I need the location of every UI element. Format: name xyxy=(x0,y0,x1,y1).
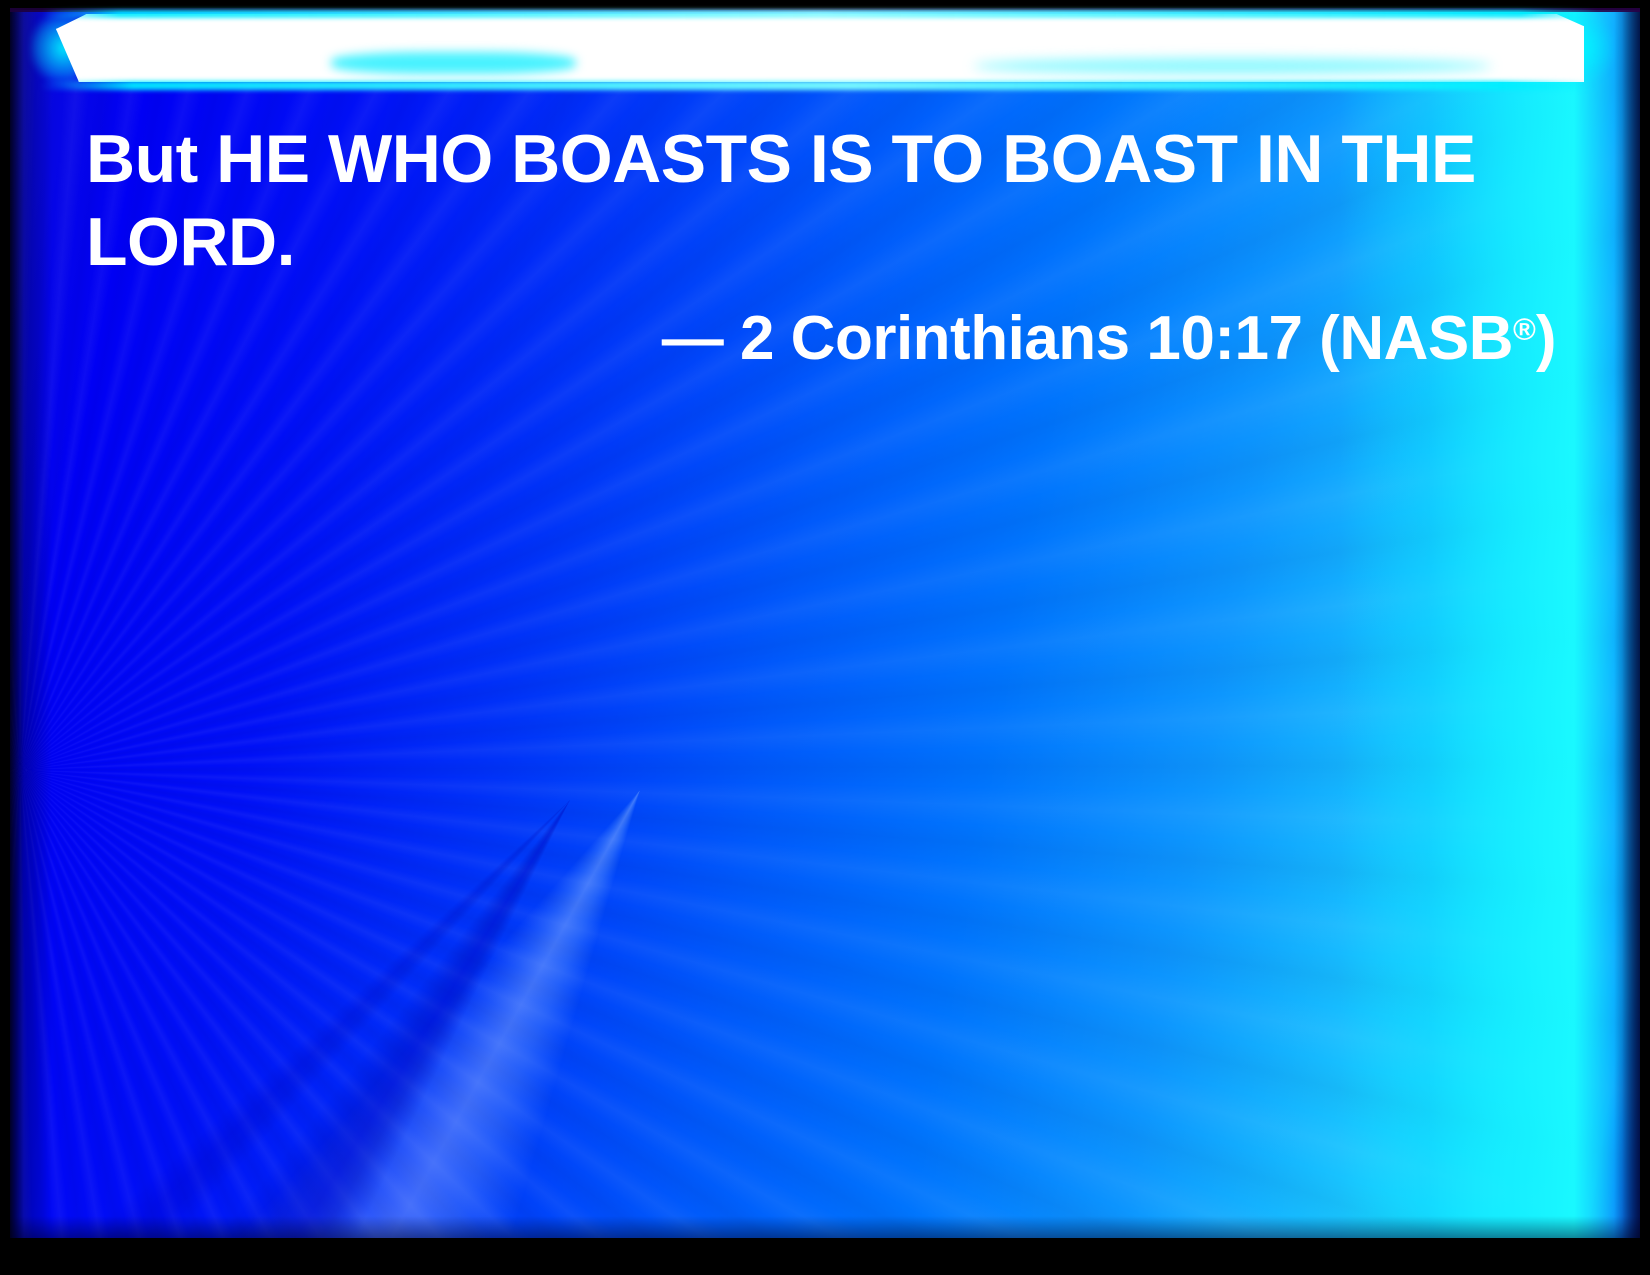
slide-background xyxy=(10,10,1640,1238)
verse-slide: But HE WHO BOASTS IS TO BOAST IN THE LOR… xyxy=(0,0,1650,1275)
top-hairline xyxy=(10,8,1640,12)
background-vignette xyxy=(10,10,1640,1238)
